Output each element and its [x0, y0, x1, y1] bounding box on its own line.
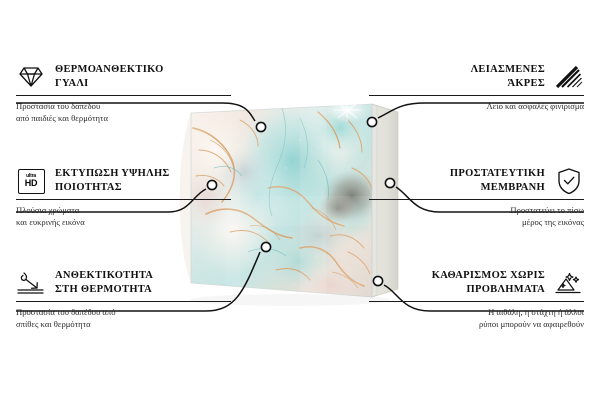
feature-head: ΘΕΡΜΟΑΝΘΕΚΤΙΚΟ ΓΥΑΛΙ	[16, 62, 231, 92]
infographic-stage: ΘΕΡΜΟΑΝΘΕΚΤΙΚΟ ΓΥΑΛΙ Προστασία του δαπέδ…	[0, 0, 600, 400]
feature-title: ΠΡΟΣΤΑΤΕΥΤΙΚΗ ΜΕΜΒΡΑΝΗ	[450, 167, 545, 195]
feature-high-quality-print[interactable]: ultra HD ΕΚΤΥΠΩΣΗ ΥΨΗΛΗΣ ΠΟΙΟΤΗΤΑΣ Πλούσ…	[16, 166, 231, 229]
feature-rule	[16, 199, 231, 200]
feature-title: ΛΕΙΑΣΜΕΝΕΣ ΆΚΡΕΣ	[471, 63, 545, 91]
feature-rule	[16, 301, 231, 302]
feature-description: Λείο και ασφαλές φινίρισμα	[369, 100, 584, 112]
feature-rule	[16, 95, 231, 96]
feature-title: ΚΑΘΑΡΙΣΜΟΣ ΧΩΡΙΣ ΠΡΟΒΛΗΜΑΤΑ	[432, 269, 545, 297]
feature-heat-resistant-glass[interactable]: ΘΕΡΜΟΑΝΘΕΚΤΙΚΟ ΓΥΑΛΙ Προστασία του δαπέδ…	[16, 62, 231, 125]
feature-title: ΘΕΡΜΟΑΝΘΕΚΤΙΚΟ ΓΥΑΛΙ	[55, 63, 164, 91]
feature-description: Η αιθάλη, η στάχτη ή άλλοι ρύποι μπορούν…	[369, 306, 584, 331]
feature-title: ΕΚΤΥΠΩΣΗ ΥΨΗΛΗΣ ΠΟΙΟΤΗΤΑΣ	[55, 167, 170, 195]
feature-head: ΛΕΙΑΣΜΕΝΕΣ ΆΚΡΕΣ	[369, 62, 584, 92]
feature-head: ΑΝΘΕΚΤΙΚΟΤΗΤΑ ΣΤΗ ΘΕΡΜΟΤΗΤΑ	[16, 268, 231, 298]
feature-title: ΑΝΘΕΚΤΙΚΟΤΗΤΑ ΣΤΗ ΘΕΡΜΟΤΗΤΑ	[55, 269, 153, 297]
connector-dot-glass[interactable]	[256, 122, 265, 131]
easy-clean-sparkle-icon	[554, 268, 584, 298]
feature-rule	[369, 301, 584, 302]
connector-dot-edges[interactable]	[367, 117, 376, 126]
shield-check-icon	[554, 166, 584, 196]
feature-protective-membrane[interactable]: ΠΡΟΣΤΑΤΕΥΤΙΚΗ ΜΕΜΒΡΑΝΗ Προστατεύει το πί…	[369, 166, 584, 229]
flame-deflect-icon	[16, 268, 46, 298]
connector-dot-heat[interactable]	[261, 242, 270, 251]
feature-description: Προστατεύει το πίσω μέρος της εικόνας	[369, 204, 584, 229]
ultra-hd-icon: ultra HD	[16, 166, 46, 196]
feature-description: Προστασία του δαπέδου από παιδιές και θε…	[16, 100, 231, 125]
feature-easy-cleaning[interactable]: ΚΑΘΑΡΙΣΜΟΣ ΧΩΡΙΣ ΠΡΟΒΛΗΜΑΤΑ Η αιθάλη, η …	[369, 268, 584, 331]
flare-rays	[333, 100, 361, 121]
diamond-icon	[16, 62, 46, 92]
feature-head: ΚΑΘΑΡΙΣΜΟΣ ΧΩΡΙΣ ΠΡΟΒΛΗΜΑΤΑ	[369, 268, 584, 298]
feature-head: ΠΡΟΣΤΑΤΕΥΤΙΚΗ ΜΕΜΒΡΑΝΗ	[369, 166, 584, 196]
feature-smooth-edges[interactable]: ΛΕΙΑΣΜΕΝΕΣ ΆΚΡΕΣ Λείο και ασφαλές φινίρι…	[369, 62, 584, 112]
feature-heat-durability[interactable]: ΑΝΘΕΚΤΙΚΟΤΗΤΑ ΣΤΗ ΘΕΡΜΟΤΗΤΑ Προστασία το…	[16, 268, 231, 331]
feature-rule	[369, 199, 584, 200]
feature-head: ultra HD ΕΚΤΥΠΩΣΗ ΥΨΗΛΗΣ ΠΟΙΟΤΗΤΑΣ	[16, 166, 231, 196]
feature-rule	[369, 95, 584, 96]
feature-description: Πλούσια χρώματα και ευκρινής εικόνα	[16, 204, 231, 229]
feature-description: Προστασία του δαπέδου από σπίθες και θερ…	[16, 306, 231, 331]
glass-flare	[325, 97, 369, 123]
smooth-edges-icon	[554, 62, 584, 92]
connector-dots	[207, 117, 394, 285]
